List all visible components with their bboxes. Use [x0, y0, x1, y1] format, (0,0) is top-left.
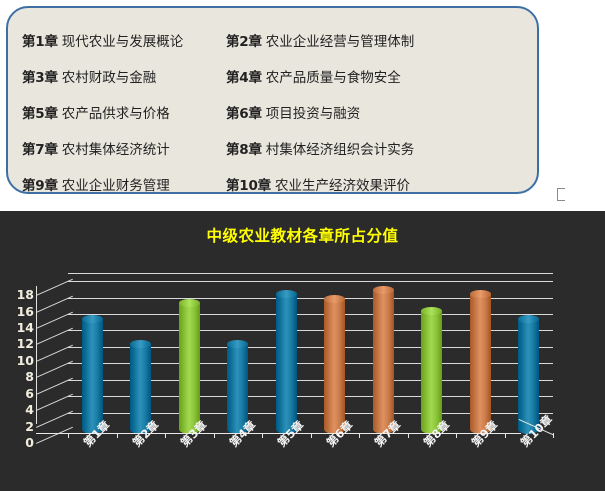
y-axis-tick-label: 10 [8, 355, 34, 367]
x-axis-labels: 第1章第2章第3章第4章第5章第6章第7章第8章第9章第10章 [68, 439, 568, 491]
y-axis-tick-label: 8 [8, 371, 34, 383]
chapter-number: 第3章 [22, 66, 58, 86]
y-axis-tick-label: 16 [8, 306, 34, 318]
chapter-entry-2: 第2章 农业企业经营与管理体制 [226, 30, 526, 50]
chapter-row: 第7章 农村集体经济统计 第8章 村集体经济组织会计实务 [22, 130, 537, 166]
x-axis-tick [68, 433, 69, 438]
chapter-number: 第1章 [22, 30, 58, 50]
bar [324, 299, 345, 434]
chapter-title: 农业企业财务管理 [62, 174, 170, 194]
chapter-number: 第10章 [226, 174, 271, 194]
chart-title: 中级农业教材各章所占分值 [0, 224, 605, 246]
bar-body [82, 319, 103, 434]
chapter-entry-8: 第8章 村集体经济组织会计实务 [226, 138, 526, 158]
chapter-entry-5: 第5章 农产品供求与价格 [22, 102, 226, 122]
bars-layer [68, 273, 553, 434]
chart-depth-wall [36, 273, 70, 423]
x-axis-tick [553, 433, 554, 438]
y-axis-tick-label: 12 [8, 338, 34, 350]
bar [276, 294, 297, 434]
bar-body [179, 303, 200, 434]
chapter-number: 第2章 [226, 30, 262, 50]
chapter-title: 农产品供求与价格 [62, 102, 170, 122]
chapter-list-panel: 第1章 现代农业与发展概论 第2章 农业企业经营与管理体制 第3章 农村财政与金… [6, 6, 539, 194]
bar-cap [421, 307, 442, 315]
chapter-title: 项目投资与融资 [266, 102, 361, 122]
y-axis-line [36, 286, 37, 424]
chapter-title: 村集体经济组织会计实务 [266, 138, 415, 158]
bar [82, 319, 103, 434]
bar-cap [324, 295, 345, 303]
bar [179, 303, 200, 434]
chapter-row: 第5章 农产品供求与价格 第6章 项目投资与融资 [22, 94, 537, 130]
bar-chart: 中级农业教材各章所占分值 024681012141618 第1章第2章第3章第4… [0, 211, 605, 491]
bar-body [518, 319, 539, 434]
y-axis-tick-label: 0 [8, 437, 34, 449]
chapter-title: 农村集体经济统计 [62, 138, 170, 158]
chapter-entry-7: 第7章 农村集体经济统计 [22, 138, 226, 158]
chapter-number: 第6章 [226, 102, 262, 122]
chapter-rows: 第1章 现代农业与发展概论 第2章 农业企业经营与管理体制 第3章 农村财政与金… [8, 8, 537, 194]
bar-body [421, 311, 442, 434]
chapter-title: 农产品质量与食物安全 [266, 66, 401, 86]
bar [421, 311, 442, 434]
bar-body [470, 294, 491, 434]
chapter-entry-10: 第10章 农业生产经济效果评价 [226, 174, 526, 194]
x-axis-tick [505, 433, 506, 438]
y-axis-tick-label: 18 [8, 289, 34, 301]
chapter-row: 第3章 农村财政与金融 第4章 农产品质量与食物安全 [22, 58, 537, 94]
x-axis-tick [117, 433, 118, 438]
bar-cap [130, 340, 151, 348]
text-cursor-icon [557, 188, 565, 201]
chapter-entry-9: 第9章 农业企业财务管理 [22, 174, 226, 194]
chapter-row: 第1章 现代农业与发展概论 第2章 农业企业经营与管理体制 [22, 22, 537, 58]
x-axis-tick [165, 433, 166, 438]
chapter-title: 现代农业与发展概论 [62, 30, 184, 50]
bar [373, 290, 394, 434]
bar-cap [82, 315, 103, 323]
x-axis-tick [408, 433, 409, 438]
chapter-number: 第7章 [22, 138, 58, 158]
x-axis-tick [311, 433, 312, 438]
x-axis-tick [262, 433, 263, 438]
bar-cap [179, 299, 200, 307]
x-axis-tick [214, 433, 215, 438]
chapter-title: 农村财政与金融 [62, 66, 157, 86]
bar [470, 294, 491, 434]
y-axis-tick-label: 2 [8, 421, 34, 433]
chapter-entry-1: 第1章 现代农业与发展概论 [22, 30, 226, 50]
chapter-row: 第9章 农业企业财务管理 第10章 农业生产经济效果评价 [22, 166, 537, 194]
y-axis-tick-label: 14 [8, 322, 34, 334]
chapter-title: 农业企业经营与管理体制 [266, 30, 415, 50]
bar-body [324, 299, 345, 434]
bar-cap [227, 340, 248, 348]
chapter-entry-3: 第3章 农村财政与金融 [22, 66, 226, 86]
chapter-entry-6: 第6章 项目投资与融资 [226, 102, 526, 122]
bar-body [276, 294, 297, 434]
x-axis-tick [359, 433, 360, 438]
y-axis-tick-label: 4 [8, 404, 34, 416]
chapter-number: 第4章 [226, 66, 262, 86]
chapter-entry-4: 第4章 农产品质量与食物安全 [226, 66, 526, 86]
y-axis-labels: 024681012141618 [0, 273, 34, 433]
x-axis-tick [456, 433, 457, 438]
chapter-number: 第5章 [22, 102, 58, 122]
chapter-title: 农业生产经济效果评价 [275, 174, 410, 194]
y-axis-tick-label: 6 [8, 388, 34, 400]
chapter-number: 第8章 [226, 138, 262, 158]
bar [518, 319, 539, 434]
bar-body [373, 290, 394, 434]
chapter-number: 第9章 [22, 174, 58, 194]
